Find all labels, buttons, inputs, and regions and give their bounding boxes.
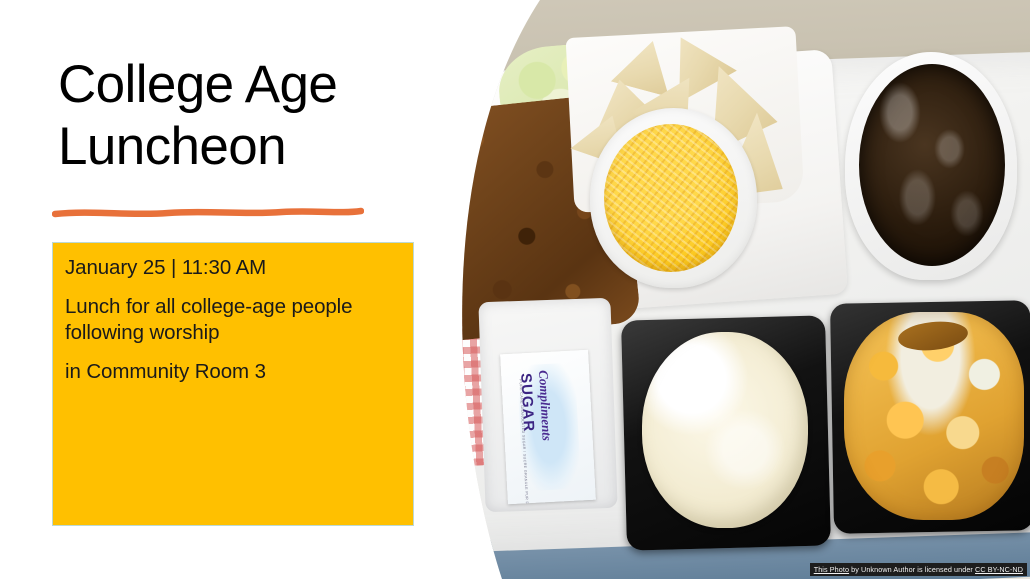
taco-meat bbox=[440, 93, 641, 348]
attribution-text: by Unknown Author is licensed under bbox=[849, 565, 975, 574]
attribution-photo-link[interactable]: This Photo bbox=[814, 565, 849, 574]
photo-attribution: This Photo by Unknown Author is licensed… bbox=[810, 563, 1027, 576]
cobbler-crust bbox=[897, 318, 970, 353]
packet-product-name: SUGAR bbox=[517, 373, 537, 433]
photo-clip-mask: Compliments SUGAR PURE CANE GRANULATED S… bbox=[440, 0, 1030, 579]
event-details-callout: January 25 | 11:30 AM Lunch for all coll… bbox=[52, 242, 414, 526]
cafeteria-tray bbox=[440, 50, 1030, 553]
sugar-packet: Compliments SUGAR PURE CANE GRANULATED S… bbox=[500, 350, 596, 504]
lunch-tray-photo: Compliments SUGAR PURE CANE GRANULATED S… bbox=[440, 0, 1030, 579]
cheese-cup bbox=[590, 108, 757, 288]
event-datetime: January 25 | 11:30 AM bbox=[65, 255, 397, 281]
dessert-container-right bbox=[830, 300, 1030, 533]
tray-compartment-sugar bbox=[478, 298, 617, 512]
title-line-1: College Age bbox=[58, 54, 428, 116]
title-line-2: Luncheon bbox=[58, 116, 428, 178]
gingham-napkin bbox=[440, 295, 494, 467]
page-title: College Age Luncheon bbox=[58, 54, 428, 178]
packet-fine-print: PURE CANE GRANULATED SUGAR / SUCRE GRANU… bbox=[518, 379, 530, 504]
tortilla-chip-boat bbox=[566, 26, 805, 213]
lettuce-slaw bbox=[495, 40, 634, 161]
shredded-cheddar bbox=[604, 124, 738, 272]
packet-swoosh-graphic bbox=[517, 363, 582, 492]
drink-cup bbox=[845, 52, 1017, 280]
countertop-surface bbox=[440, 0, 1030, 118]
packet-brand-name: Compliments bbox=[535, 370, 555, 442]
event-description: Lunch for all college-age people followi… bbox=[65, 294, 397, 346]
iced-cola bbox=[859, 64, 1005, 266]
paper-food-boat bbox=[440, 49, 848, 324]
attribution-license-link[interactable]: CC BY-NC-ND bbox=[975, 565, 1023, 574]
mashed-potato-scoop bbox=[642, 332, 808, 528]
orange-squiggle-divider bbox=[52, 200, 364, 222]
slide-canvas: College Age Luncheon January 25 | 11:30 … bbox=[0, 0, 1030, 579]
dessert-container-left bbox=[621, 315, 831, 550]
event-location: in Community Room 3 bbox=[65, 359, 397, 385]
peach-cobbler bbox=[844, 312, 1024, 520]
